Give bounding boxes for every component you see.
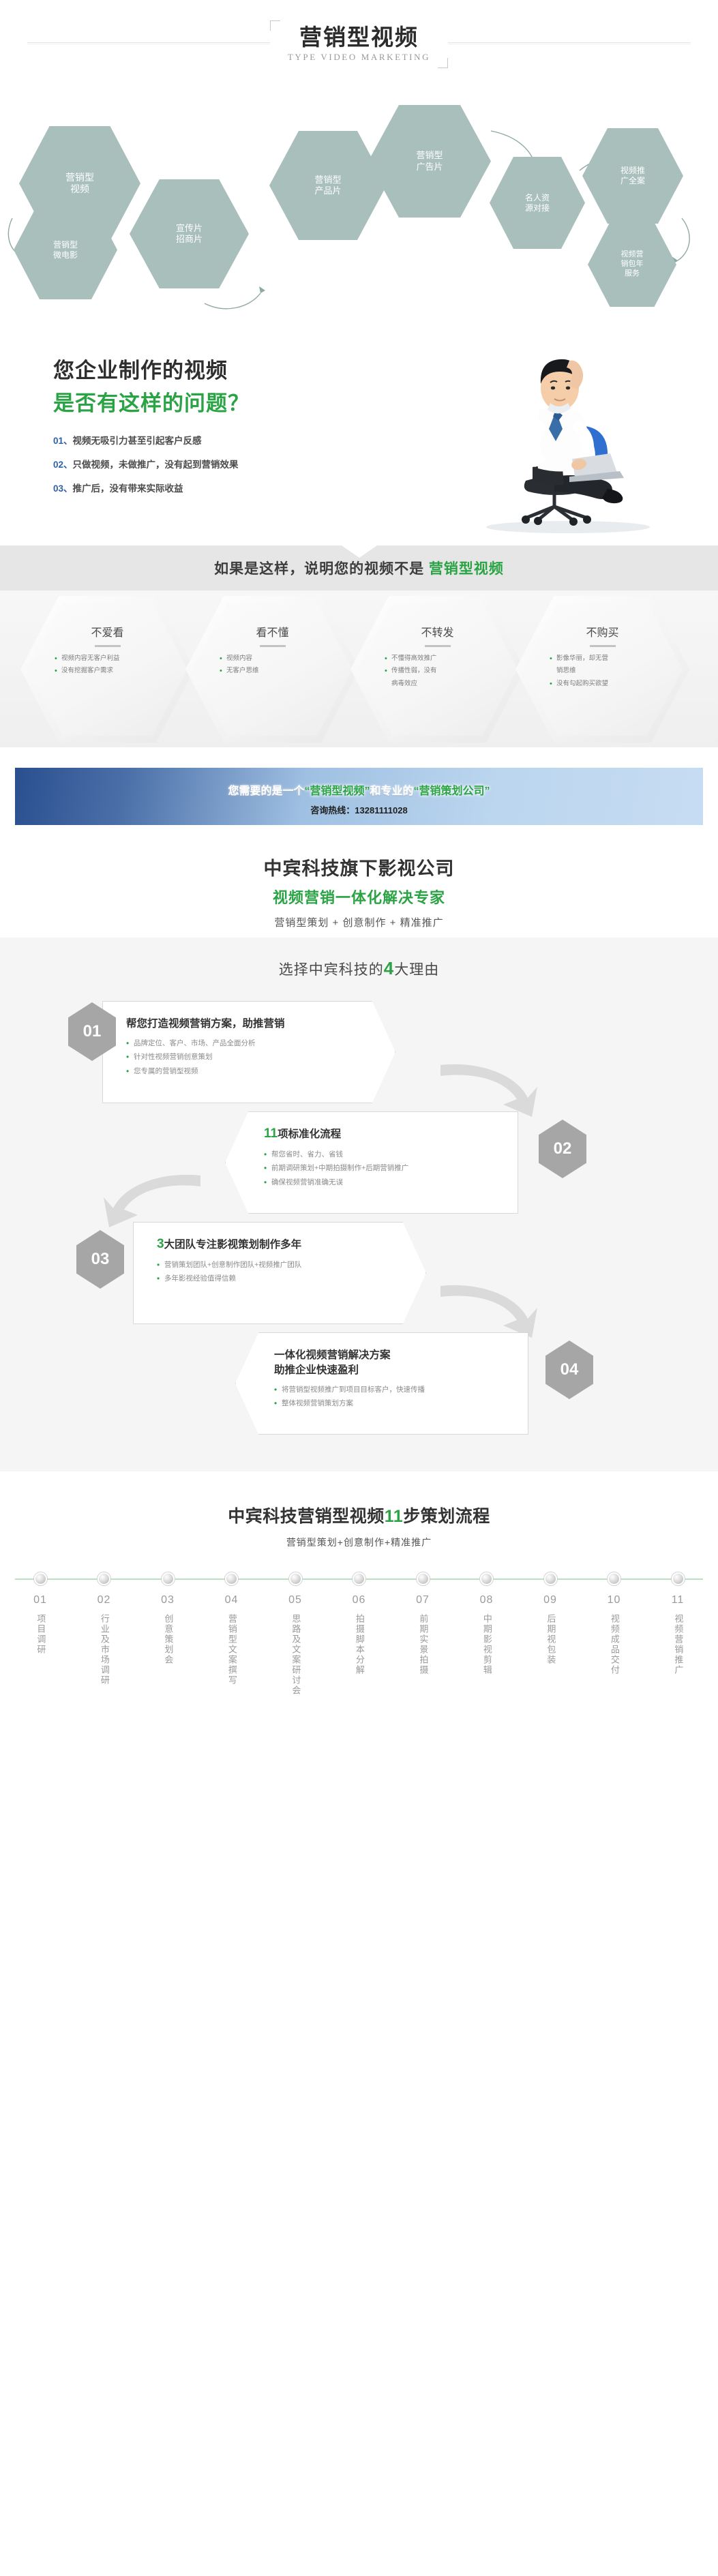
service-hexagon-label: 名人资源对接 [521, 193, 554, 213]
service-hexagon-label: 营销型视频 [61, 172, 98, 196]
problem-card-title: 看不懂 [256, 623, 288, 640]
problem-card-bullet: 影像华丽，却无营 [550, 654, 655, 663]
service-hexagon-label: 营销型微电影 [49, 240, 82, 260]
reason-card-bullet: 多年影视经验值得信赖 [157, 1273, 425, 1284]
problem-card-title: 不购买 [586, 623, 618, 640]
timeline-step-dot [162, 1572, 175, 1585]
problem-card-bullet: 销思维 [550, 666, 655, 676]
service-hexagon-label: 视频营销包年服务 [617, 250, 648, 278]
reason-card[interactable]: 3大团队专注影视策划制作多年营销策划团队+创意制作团队+视频推广团队多年影视经验… [133, 1222, 426, 1324]
timeline-step-number: 07 [398, 1594, 448, 1606]
cta-part1: 您需要的是一个 [228, 785, 304, 797]
timeline-step-dot [98, 1572, 110, 1585]
hero-headline-2: 是否有这样的问题？ [53, 386, 250, 417]
cta-blue-banner: 您需要的是一个“营销型视频”和专业的“营销策划公司” 咨询热线：13281111… [15, 768, 703, 825]
problem-hexagon-inner: 不转发不懂得高效推广传播性弱，没有病毒效应 [357, 603, 518, 736]
header-title-box: 营销型视频 TYPE VIDEO MARKETING [270, 20, 448, 68]
cta-headline: 您需要的是一个“营销型视频”和专业的“营销策划公司” [15, 781, 703, 798]
problem-card-bullets: 影像华丽，却无营销思维没有勾起购买欲望 [550, 654, 655, 691]
service-hexagon-label: 视频推广全案 [616, 166, 649, 186]
problem-card-bullets: 不懂得高效推广传播性弱，没有病毒效应 [385, 654, 490, 691]
timeline-step-dot [417, 1572, 430, 1585]
reasons-heading-prefix: 选择中宾科技的 [279, 962, 384, 978]
hero-problem-text: 只做视频，未做推广，没有起到营销效果 [73, 460, 239, 470]
problem-card-bullet: 病毒效应 [385, 679, 490, 689]
timeline-step-number: 02 [79, 1594, 130, 1606]
steps-heading-suffix: 步策划流程 [403, 1507, 490, 1526]
problem-hexagon-card[interactable]: 不爱看视频内容无客户利益没有挖掘客户需求 [20, 596, 194, 743]
company-tagline: 视频营销一体化解决专家 [0, 886, 718, 908]
company-services: 营销型策划 + 创意制作 + 精准推广 [0, 915, 718, 929]
problem-card-bullet: 视频内容无客户利益 [55, 654, 160, 663]
timeline-step-label: 行业及市场调研 [98, 1614, 110, 1686]
cta-part2: 和专业的 [370, 785, 414, 797]
reason-card[interactable]: 帮您打造视频营销方案，助推营销品牌定位、客户、市场、产品全面分析针对性视频营销创… [102, 1001, 395, 1103]
reasons-heading-number: 4 [384, 958, 394, 978]
reason-card-bullet: 帮您省时、省力、省钱 [264, 1149, 518, 1160]
problem-card-bullet: 不懂得高效推广 [385, 654, 490, 663]
timeline-step[interactable]: 09后期视包装 [525, 1572, 575, 1699]
timeline-step-label: 视频成品交付 [608, 1614, 620, 1675]
hero-problem-list: 01、视频无吸引力甚至引起客户反感02、只做视频，未做推广，没有起到营销效果03… [53, 433, 250, 494]
gray-banner-text: 如果是这样，说明您的视频不是 营销型视频 [214, 558, 504, 578]
reason-card[interactable]: 一体化视频营销解决方案助推企业快速盈利将营销型视频推广到项目目标客户，快速传播整… [235, 1332, 528, 1435]
page-header: 营销型视频 TYPE VIDEO MARKETING [0, 0, 718, 89]
timeline-step[interactable]: 06拍摄脚本分解 [334, 1572, 385, 1699]
problem-hexagon-card[interactable]: 看不懂视频内容无客户思维 [185, 596, 359, 743]
service-hexagon[interactable]: 视频营销包年服务 [588, 222, 676, 307]
reason-row: 一体化视频营销解决方案助推企业快速盈利将营销型视频推广到项目目标客户，快速传播整… [0, 1328, 718, 1439]
timeline-step-label: 视频营销推广 [672, 1614, 685, 1675]
timeline-step-label: 思路及文案研讨会 [289, 1614, 302, 1696]
timeline-step[interactable]: 10视频成品交付 [589, 1572, 640, 1699]
reason-card-title: 3大团队专注影视策划制作多年 [157, 1236, 425, 1252]
timeline-step-label: 营销型文案撰写 [225, 1614, 238, 1686]
problem-hexagon-card[interactable]: 不购买影像华丽，却无营销思维没有勾起购买欲望 [515, 596, 689, 743]
gray-banner-highlight: 营销型视频 [429, 561, 504, 577]
timeline-step-label: 前期实景拍摄 [417, 1614, 430, 1675]
service-hexagon[interactable]: 宣传片招商片 [130, 179, 249, 288]
reasons-section: 选择中宾科技的4大理由 帮您打造视频营销方案，助推营销品牌定位、客户、市场、产品… [0, 938, 718, 1471]
reason-card-bullet: 您专属的营销型视频 [126, 1066, 395, 1077]
timeline-step-number: 04 [207, 1594, 257, 1606]
timeline-step[interactable]: 02行业及市场调研 [79, 1572, 130, 1699]
cta-green2: “营销策划公司” [414, 785, 490, 797]
reason-card-title: 帮您打造视频营销方案，助推营销 [126, 1015, 395, 1030]
hero-headline-1: 您企业制作的视频 [53, 353, 250, 384]
timeline-step-number: 05 [270, 1594, 320, 1606]
timeline-step[interactable]: 11视频营销推广 [653, 1572, 703, 1699]
hero-problem-item: 02、只做视频，未做推广，没有起到营销效果 [53, 457, 250, 470]
reason-card-bullet: 确保视频营销准确无误 [264, 1177, 518, 1188]
reason-card-title: 11项标准化流程 [264, 1126, 518, 1141]
hero-problem-text: 视频无吸引力甚至引起客户反感 [73, 436, 202, 446]
gray-banner-prefix: 如果是这样，说明您的视频不是 [214, 561, 429, 577]
reason-number-badge: 03 [76, 1230, 124, 1289]
timeline-step-dot [289, 1572, 302, 1585]
service-hexagon-label: 宣传片招商片 [172, 223, 207, 245]
problem-card-divider [260, 645, 286, 647]
problem-card-bullets: 视频内容无客户利益没有挖掘客户需求 [55, 654, 160, 679]
service-hexagon[interactable]: 视频推广全案 [582, 128, 683, 224]
service-hexagon[interactable]: 营销型广告片 [368, 105, 491, 218]
problem-card-bullet: 没有勾起购买欲望 [550, 679, 655, 689]
timeline-step[interactable]: 08中期影视剪辑 [462, 1572, 512, 1699]
problem-card-title: 不爱看 [91, 623, 123, 640]
reason-card-bullet: 将营销型视频推广到项目目标客户，快速传播 [274, 1384, 528, 1395]
service-hexagon-label: 营销型广告片 [412, 150, 447, 173]
steps-heading-number: 11 [385, 1507, 403, 1526]
timeline-items: 01项目调研02行业及市场调研03创意策划会04营销型文案撰写05思路及文案研讨… [15, 1572, 703, 1699]
page-title: 营销型视频 [288, 25, 430, 50]
page-subtitle: TYPE VIDEO MARKETING [288, 52, 430, 63]
reason-card-title-number: 3 [157, 1237, 164, 1251]
reason-card-bullet: 整体视频营销策划方案 [274, 1398, 528, 1409]
timeline-step-number: 03 [143, 1594, 193, 1606]
timeline-step[interactable]: 07前期实景拍摄 [398, 1572, 448, 1699]
timeline-step-dot [34, 1572, 47, 1585]
timeline-step-label: 中期影视剪辑 [480, 1614, 493, 1675]
timeline-step-dot [480, 1572, 493, 1585]
timeline-step[interactable]: 01项目调研 [15, 1572, 65, 1699]
hero-problem-number: 03、 [53, 483, 73, 494]
timeline-step-dot [672, 1572, 685, 1585]
reasons-heading-suffix: 大理由 [394, 962, 439, 978]
hero-problem-item: 03、推广后，没有带来实际收益 [53, 481, 250, 494]
timeline-step[interactable]: 04营销型文案撰写 [207, 1572, 257, 1699]
cta-hotline[interactable]: 咨询热线：13281111028 [15, 803, 703, 816]
reason-row: 帮您打造视频营销方案，助推营销品牌定位、客户、市场、产品全面分析针对性视频营销创… [0, 997, 718, 1107]
problem-card-bullets: 视频内容无客户思维 [220, 654, 325, 679]
problem-hero-section: 您企业制作的视频 是否有这样的问题？ 01、视频无吸引力甚至引起客户反感02、只… [0, 327, 718, 545]
timeline-step-label: 创意策划会 [162, 1614, 175, 1665]
timeline-step-dot [353, 1572, 365, 1585]
cta-green1: “营销型视频” [304, 785, 370, 797]
reason-number-badge: 02 [539, 1120, 586, 1178]
hero-problem-item: 01、视频无吸引力甚至引起客户反感 [53, 433, 250, 447]
reason-number-badge: 04 [545, 1341, 593, 1399]
timeline-step-label: 后期视包装 [544, 1614, 557, 1665]
timeline-step-dot [225, 1572, 238, 1585]
timeline-step-number: 09 [525, 1594, 575, 1606]
timeline-step-number: 06 [334, 1594, 385, 1606]
steps-heading: 中宾科技营销型视频11步策划流程 [0, 1503, 718, 1527]
company-name: 中宾科技旗下影视公司 [0, 854, 718, 880]
timeline-step[interactable]: 03创意策划会 [143, 1572, 193, 1699]
reason-card-bullet: 品牌定位、客户、市场、产品全面分析 [126, 1038, 395, 1049]
reasons-heading: 选择中宾科技的4大理由 [0, 958, 718, 979]
problem-card-divider [95, 645, 121, 647]
reason-card-title: 一体化视频营销解决方案助推企业快速盈利 [274, 1347, 528, 1377]
reason-card-title-number: 11 [264, 1126, 278, 1141]
steps-heading-prefix: 中宾科技营销型视频 [228, 1507, 385, 1526]
problem-card-bullet: 无客户思维 [220, 666, 325, 676]
page-root: 营销型视频 TYPE VIDEO MARKETING 营销型视频宣传片招商片营销… [0, 0, 718, 1722]
hero-problem-text: 推广后，没有带来实际收益 [73, 483, 183, 494]
problem-hexagon-row: 不爱看视频内容无客户利益没有挖掘客户需求看不懂视频内容无客户思维不转发不懂得高效… [0, 590, 718, 747]
problem-card-bullet: 传播性弱，没有 [385, 666, 490, 676]
reason-card-bullet: 营销策划团队+创意制作团队+视频推广团队 [157, 1259, 425, 1270]
businessman-illustration [452, 331, 677, 535]
service-hexagon-label: 营销型产品片 [310, 175, 345, 197]
hero-text-block: 您企业制作的视频 是否有这样的问题？ 01、视频无吸引力甚至引起客户反感02、只… [53, 353, 250, 505]
company-intro-section: 中宾科技旗下影视公司 视频营销一体化解决专家 营销型策划 + 创意制作 + 精准… [0, 825, 718, 938]
reason-card-bullet: 前期调研策划+中期拍摄制作+后期营销推广 [264, 1163, 518, 1173]
reason-card[interactable]: 11项标准化流程帮您省时、省力、省钱前期调研策划+中期拍摄制作+后期营销推广确保… [225, 1111, 518, 1214]
timeline-step[interactable]: 05思路及文案研讨会 [270, 1572, 320, 1699]
timeline-step-number: 01 [15, 1594, 65, 1606]
hero-problem-number: 02、 [53, 460, 73, 470]
timeline-step-dot [544, 1572, 557, 1585]
problem-card-divider [425, 645, 451, 647]
problem-hexagon-inner: 看不懂视频内容无客户思维 [192, 603, 353, 736]
problem-hexagon-inner: 不购买影像华丽，却无营销思维没有勾起购买欲望 [522, 603, 683, 736]
timeline: 01项目调研02行业及市场调研03创意策划会04营销型文案撰写05思路及文案研讨… [0, 1572, 718, 1699]
reason-row: 3大团队专注影视策划制作多年营销策划团队+创意制作团队+视频推广团队多年影视经验… [0, 1218, 718, 1328]
problem-card-bullet: 视频内容 [220, 654, 325, 663]
reasons-card-list: 帮您打造视频营销方案，助推营销品牌定位、客户、市场、产品全面分析针对性视频营销创… [0, 997, 718, 1439]
problem-card-divider [590, 645, 616, 647]
service-hexagon-cloud: 营销型视频宣传片招商片营销型产品片营销型广告片名人资源对接视频推广全案营销型微电… [0, 89, 718, 327]
timeline-step-number: 10 [589, 1594, 640, 1606]
hero-problem-number: 01、 [53, 436, 73, 446]
gray-conclusion-banner: 如果是这样，说明您的视频不是 营销型视频 [0, 545, 718, 590]
service-hexagon[interactable]: 营销型产品片 [269, 131, 387, 240]
timeline-step-number: 08 [462, 1594, 512, 1606]
problem-hexagon-inner: 不爱看视频内容无客户利益没有挖掘客户需求 [27, 603, 188, 736]
timeline-step-number: 11 [653, 1594, 703, 1606]
reason-card-bullet: 针对性视频营销创意策划 [126, 1051, 395, 1062]
timeline-step-label: 项目调研 [34, 1614, 47, 1655]
timeline-step-dot [608, 1572, 620, 1585]
process-steps-section: 中宾科技营销型视频11步策划流程 营销型策划+创意制作+精准推广 01项目调研0… [0, 1471, 718, 1722]
steps-subheading: 营销型策划+创意制作+精准推广 [0, 1536, 718, 1549]
problem-hexagon-card[interactable]: 不转发不懂得高效推广传播性弱，没有病毒效应 [350, 596, 524, 743]
problem-card-bullet: 没有挖掘客户需求 [55, 666, 160, 676]
reason-row: 11项标准化流程帮您省时、省力、省钱前期调研策划+中期拍摄制作+后期营销推广确保… [0, 1107, 718, 1218]
problem-card-title: 不转发 [421, 623, 453, 640]
timeline-step-label: 拍摄脚本分解 [353, 1614, 365, 1675]
service-hexagon[interactable]: 名人资源对接 [490, 157, 585, 249]
